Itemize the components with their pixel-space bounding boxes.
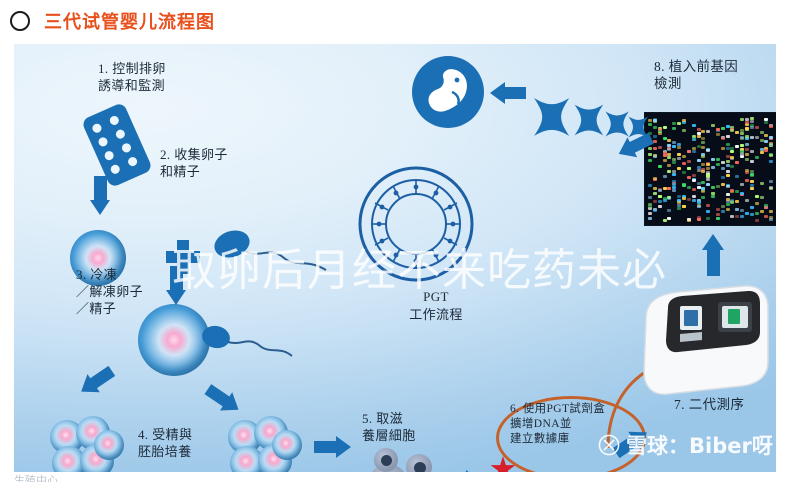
fetus-badge-icon [412,56,484,128]
page-header: 三代试管婴儿流程图 [0,0,800,42]
step-8-label: 8. 植入前基因 檢測 [654,58,776,92]
pill-blister-pack-icon [81,102,153,188]
watermark-text: 取卵后月经不来吃药未必 [172,234,667,298]
screenshot-root: 三代试管婴儿流程图 1. 控制排卵 誘導和監測 2. 收集卵子 和精子 3. 冷… [0,0,800,482]
fertilized-oocyte-icon [138,304,210,376]
step-2-label: 2. 收集卵子 和精子 [160,146,310,180]
dna-sequencing-gel-icon [644,112,776,226]
trophectoderm-cells-icon [366,448,456,472]
watermark-logo: 雪球：Biber呀 [598,430,773,460]
watermark-logo-text: 雪球：Biber呀 [626,430,773,460]
fetus-glyph-icon [412,56,484,128]
footer-caption: 生殖中心 [14,472,58,482]
ivf-flowchart-image: 1. 控制排卵 誘導和監測 2. 收集卵子 和精子 3. 冷凍 ／解凍卵子 ／精… [14,44,776,472]
dna-sequencer-machine-icon [632,282,774,402]
pgt-subtitle: 工作流程 [376,306,496,323]
step-1-label: 1. 控制排卵 誘導和監測 [98,60,238,94]
embryo-cluster-icon-2 [228,416,306,472]
sperm-fertilizing-icon [202,322,294,368]
step-7-label: 7. 二代測序 [674,396,776,413]
xueqiu-logo-icon [598,434,620,456]
step-5-label: 5. 取滋 養層細胞 [362,410,472,444]
chromosome-x-icon [526,84,652,170]
page-title: 三代试管婴儿流程图 [44,8,215,34]
circle-outline-icon [10,11,30,31]
embryo-cluster-icon [50,416,128,472]
